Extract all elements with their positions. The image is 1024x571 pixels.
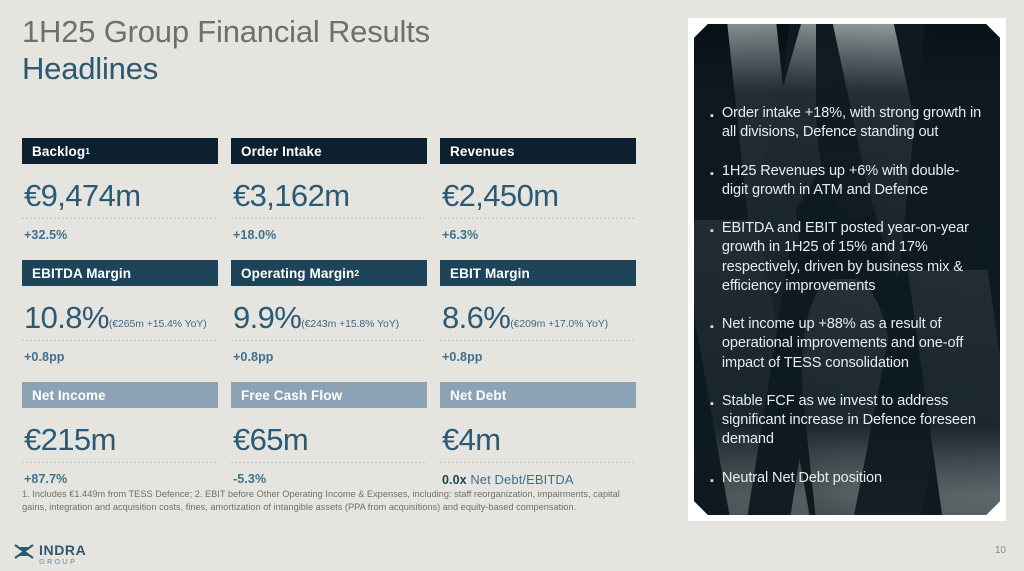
metrics-grid: Backlog1 €9,474m +32.5% Order Intake €3,…	[22, 138, 648, 504]
metric-card-free-cash-flow: Free Cash Flow €65m -5.3%	[231, 382, 427, 504]
card-body: €4m 0.0x Net Debt/EBITDA	[440, 408, 636, 487]
card-header: Backlog1	[22, 138, 218, 164]
card-title: Operating Margin	[241, 266, 354, 281]
metric-card-ebit-margin: EBIT Margin 8.6% (€209m +17.0% YoY) +0.8…	[440, 260, 636, 382]
card-body: €2,450m +6.3%	[440, 164, 636, 242]
card-separator	[231, 218, 427, 219]
list-item: ▪ Neutral Net Debt position	[710, 469, 982, 488]
square-bullet-icon: ▪	[710, 476, 714, 487]
indra-mark-icon	[14, 544, 34, 564]
card-value-detail: (€243m +15.8% YoY)	[301, 318, 399, 333]
list-item: ▪ Order intake +18%, with strong growth …	[710, 104, 982, 143]
square-bullet-icon: ▪	[710, 399, 714, 410]
card-title: EBITDA Margin	[32, 266, 131, 281]
card-delta: +0.8pp	[231, 350, 427, 364]
square-bullet-icon: ▪	[710, 226, 714, 237]
slide: 1H25 Group Financial Results Headlines B…	[0, 0, 1024, 571]
card-value: €9,474m	[24, 180, 140, 211]
metric-card-order-intake: Order Intake €3,162m +18.0%	[231, 138, 427, 260]
list-item-text: 1H25 Revenues up +6% with double-digit g…	[722, 162, 982, 201]
card-value-line: €65m	[231, 415, 427, 455]
card-value-line: €2,450m	[440, 171, 636, 211]
card-delta: +18.0%	[231, 228, 427, 242]
highlights-list: ▪ Order intake +18%, with strong growth …	[694, 24, 1000, 515]
metric-card-operating-margin: Operating Margin2 9.9% (€243m +15.8% YoY…	[231, 260, 427, 382]
metric-card-ebitda-margin: EBITDA Margin 10.8% (€265m +15.4% YoY) +…	[22, 260, 218, 382]
list-item: ▪ EBITDA and EBIT posted year-on-year gr…	[710, 219, 982, 296]
card-delta: +87.7%	[22, 472, 218, 486]
card-body: 8.6% (€209m +17.0% YoY) +0.8pp	[440, 286, 636, 364]
card-value-line: €215m	[22, 415, 218, 455]
card-value: 10.8%	[24, 302, 109, 333]
list-item-text: Stable FCF as we invest to address signi…	[722, 392, 982, 450]
card-title: Net Income	[32, 388, 106, 403]
card-header: Free Cash Flow	[231, 382, 427, 408]
card-title: EBIT Margin	[450, 266, 530, 281]
list-item-text: Neutral Net Debt position	[722, 469, 882, 488]
page-title: 1H25 Group Financial Results Headlines	[22, 14, 430, 87]
card-value: 9.9%	[233, 302, 301, 333]
card-body: €215m +87.7%	[22, 408, 218, 486]
card-header: Net Debt	[440, 382, 636, 408]
card-delta-ratio: 0.0x Net Debt/EBITDA	[440, 472, 636, 487]
card-value: €215m	[24, 424, 116, 455]
card-separator	[22, 218, 218, 219]
card-header: Order Intake	[231, 138, 427, 164]
card-separator	[231, 340, 427, 341]
card-value-detail: (€265m +15.4% YoY)	[109, 318, 207, 333]
card-value: €2,450m	[442, 180, 558, 211]
card-body: 9.9% (€243m +15.8% YoY) +0.8pp	[231, 286, 427, 364]
card-separator	[440, 340, 636, 341]
metric-card-revenues: Revenues €2,450m +6.3%	[440, 138, 636, 260]
metric-card-backlog: Backlog1 €9,474m +32.5%	[22, 138, 218, 260]
card-delta: +32.5%	[22, 228, 218, 242]
card-value: €65m	[233, 424, 308, 455]
card-value-line: €3,162m	[231, 171, 427, 211]
card-body: €65m -5.3%	[231, 408, 427, 486]
list-item: ▪ Net income up +88% as a result of oper…	[710, 315, 982, 373]
card-delta: +0.8pp	[440, 350, 636, 364]
card-value-line: 10.8% (€265m +15.4% YoY)	[22, 293, 218, 333]
card-delta: +6.3%	[440, 228, 636, 242]
card-header: Operating Margin2	[231, 260, 427, 286]
indra-logo-text: INDRA GROUP	[39, 543, 86, 565]
card-body: €9,474m +32.5%	[22, 164, 218, 242]
card-value: €3,162m	[233, 180, 349, 211]
square-bullet-icon: ▪	[710, 322, 714, 333]
card-delta: +0.8pp	[22, 350, 218, 364]
page-number: 10	[995, 545, 1006, 556]
highlights-panel: ▪ Order intake +18%, with strong growth …	[688, 18, 1006, 521]
metric-card-net-debt: Net Debt €4m 0.0x Net Debt/EBITDA	[440, 382, 636, 504]
list-item-text: EBITDA and EBIT posted year-on-year grow…	[722, 219, 982, 296]
card-title: Order Intake	[241, 144, 322, 159]
card-title: Revenues	[450, 144, 515, 159]
net-debt-ratio-value: 0.0x	[442, 473, 467, 487]
metric-card-net-income: Net Income €215m +87.7%	[22, 382, 218, 504]
card-value-line: 8.6% (€209m +17.0% YoY)	[440, 293, 636, 333]
card-header: Net Income	[22, 382, 218, 408]
card-separator	[440, 218, 636, 219]
card-body: 10.8% (€265m +15.4% YoY) +0.8pp	[22, 286, 218, 364]
card-footnote-marker: 1	[85, 146, 90, 156]
list-item: ▪ 1H25 Revenues up +6% with double-digit…	[710, 162, 982, 201]
card-header: EBITDA Margin	[22, 260, 218, 286]
card-title: Backlog	[32, 144, 85, 159]
card-delta: -5.3%	[231, 472, 427, 486]
card-footnote-marker: 2	[354, 268, 359, 278]
card-separator	[231, 462, 427, 463]
card-separator	[22, 340, 218, 341]
card-header: Revenues	[440, 138, 636, 164]
card-title: Free Cash Flow	[241, 388, 342, 403]
list-item-text: Order intake +18%, with strong growth in…	[722, 104, 982, 143]
card-value-line: €9,474m	[22, 171, 218, 211]
square-bullet-icon: ▪	[710, 111, 714, 122]
net-debt-ratio-label: Net Debt/EBITDA	[470, 472, 573, 487]
list-item: ▪ Stable FCF as we invest to address sig…	[710, 392, 982, 450]
footnote: 1. Includes €1.449m from TESS Defence; 2…	[22, 488, 622, 514]
card-value-line: 9.9% (€243m +15.8% YoY)	[231, 293, 427, 333]
highlights-panel-inner: ▪ Order intake +18%, with strong growth …	[694, 24, 1000, 515]
card-separator	[440, 462, 636, 463]
card-body: €3,162m +18.0%	[231, 164, 427, 242]
card-value: 8.6%	[442, 302, 510, 333]
card-value: €4m	[442, 424, 501, 455]
square-bullet-icon: ▪	[710, 169, 714, 180]
indra-logo: INDRA GROUP	[14, 543, 86, 565]
indra-group-label: GROUP	[39, 558, 86, 565]
card-value-line: €4m	[440, 415, 636, 455]
card-title: Net Debt	[450, 388, 506, 403]
title-line-secondary: Headlines	[22, 51, 430, 88]
title-line-primary: 1H25 Group Financial Results	[22, 14, 430, 51]
indra-wordmark: INDRA	[39, 543, 86, 557]
card-separator	[22, 462, 218, 463]
card-value-detail: (€209m +17.0% YoY)	[510, 318, 608, 333]
card-header: EBIT Margin	[440, 260, 636, 286]
list-item-text: Net income up +88% as a result of operat…	[722, 315, 982, 373]
